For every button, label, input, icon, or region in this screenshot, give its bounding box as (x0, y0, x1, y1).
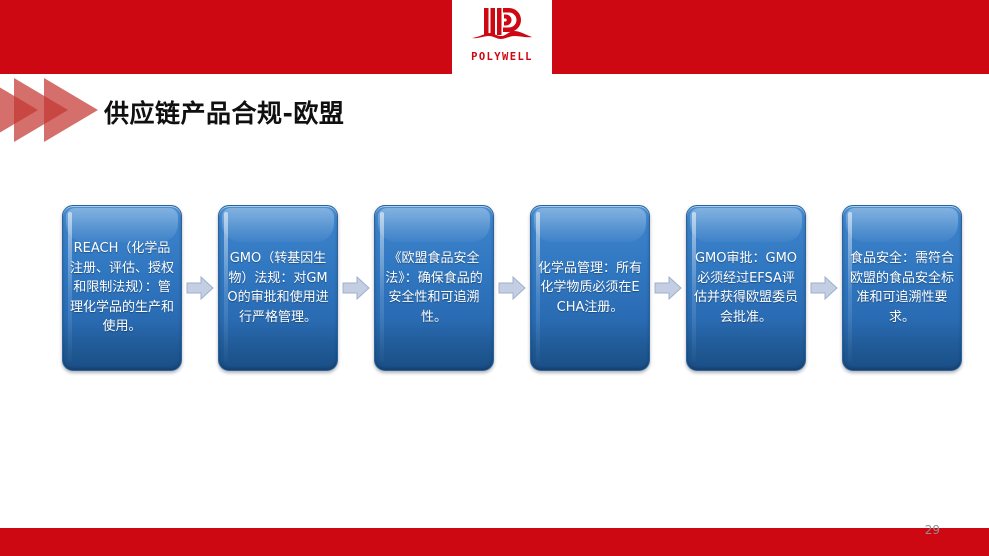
polywell-p-monogram-icon (470, 4, 534, 50)
process-flow-diagram: REACH（化学品注册、评估、授权和限制法规）：管理化学品的生产和使用。 GMO… (62, 202, 948, 374)
flow-connector-3 (494, 206, 530, 370)
logo-plate: POLYWELL (452, 0, 552, 74)
footer-band (0, 528, 989, 556)
flow-node-food-safety-law[interactable]: 《欧盟食品安全法》：确保食品的安全性和可追溯性。 (374, 205, 494, 371)
flow-node-gmo-approval[interactable]: GMO审批：GMO必须经过EFSA评估并获得欧盟委员会批准。 (686, 205, 806, 371)
title-arrow-decoration (0, 78, 120, 142)
title-row: 供应链产品合规-欧盟 (0, 74, 989, 152)
page-title: 供应链产品合规-欧盟 (104, 94, 344, 130)
right-arrow-icon (342, 276, 370, 300)
flow-node-label: 《欧盟食品安全法》：确保食品的安全性和可追溯性。 (375, 249, 493, 327)
flow-connector-5 (806, 206, 842, 370)
page-number: 29 (925, 523, 940, 537)
flow-node-label: 化学品管理：所有化学物质必须在ECHA注册。 (531, 259, 649, 318)
flow-connector-4 (650, 206, 686, 370)
flow-node-label: GMO（转基因生物）法规：对GMO的审批和使用进行严格管理。 (219, 249, 337, 327)
flow-node-chemical-management[interactable]: 化学品管理：所有化学物质必须在ECHA注册。 (530, 205, 650, 371)
right-arrow-icon (654, 276, 682, 300)
flow-node-reach[interactable]: REACH（化学品注册、评估、授权和限制法规）：管理化学品的生产和使用。 (62, 205, 182, 371)
flow-node-label: 食品安全：需符合欧盟的食品安全标准和可追溯性要求。 (843, 249, 961, 327)
flow-node-label: REACH（化学品注册、评估、授权和限制法规）：管理化学品的生产和使用。 (63, 239, 181, 337)
right-arrow-icon (498, 276, 526, 300)
flow-node-food-safety[interactable]: 食品安全：需符合欧盟的食品安全标准和可追溯性要求。 (842, 205, 962, 371)
flow-connector-1 (182, 206, 218, 370)
flow-node-label: GMO审批：GMO必须经过EFSA评估并获得欧盟委员会批准。 (687, 249, 805, 327)
flow-connector-2 (338, 206, 374, 370)
triangle-accent-3 (44, 78, 98, 142)
logo-wordmark: POLYWELL (471, 51, 533, 63)
right-arrow-icon (186, 276, 214, 300)
right-arrow-icon (810, 276, 838, 300)
flow-node-gmo-regulation[interactable]: GMO（转基因生物）法规：对GMO的审批和使用进行严格管理。 (218, 205, 338, 371)
